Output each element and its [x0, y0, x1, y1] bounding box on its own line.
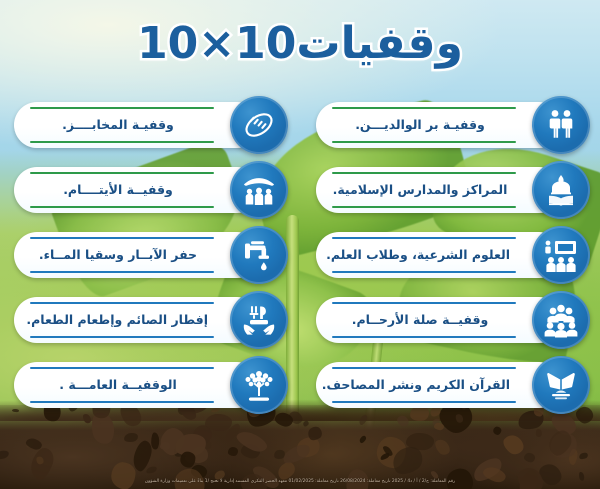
item-pill[interactable]: وقفيـة بر الوالديـــن. — [316, 102, 562, 148]
left-column: وقفيـة المخابــــز. وقفيــة الأيتــــام. — [14, 96, 286, 421]
soil-clod — [536, 429, 542, 437]
item-pill[interactable]: العلوم الشرعية، وطلاب العلم. — [316, 232, 562, 278]
soil-clod — [500, 431, 527, 457]
soil-clod — [441, 463, 478, 489]
item-pill[interactable]: الوقفيــة العامـــة . — [14, 362, 260, 408]
footer-licence-text: رقم المعاملة: ج/2 / أ / د4 / 2025 تاريخ … — [0, 479, 600, 484]
list-item[interactable]: وقفيــة صلة الأرحــام. — [316, 291, 588, 356]
item-label: وقفيـة المخابــــز. — [28, 119, 208, 132]
item-pill[interactable]: وقفيــة الأيتــــام. — [14, 167, 260, 213]
item-label: وقفيـة بر الوالديـــن. — [330, 119, 510, 132]
item-label: إفطار الصائم وإطعام الطعام. — [28, 314, 208, 327]
item-label: المراكز والمدارس الإسلامية. — [330, 184, 510, 197]
list-item[interactable]: وقفيـة بر الوالديـــن. — [316, 96, 588, 161]
item-pill[interactable]: وقفيـة المخابــــز. — [14, 102, 260, 148]
classroom-icon — [532, 226, 590, 284]
soil-clod — [579, 452, 589, 461]
item-label: وقفيــة الأيتــــام. — [28, 184, 208, 197]
list-item[interactable]: الوقفيــة العامـــة . — [14, 356, 286, 421]
soil-clod — [151, 432, 159, 449]
soil-clod — [302, 419, 310, 427]
open-quran-icon — [532, 356, 590, 414]
list-item[interactable]: حفر الآبــار وسقيا المــاء. — [14, 226, 286, 291]
soil-clod — [433, 436, 453, 457]
list-item[interactable]: القرآن الكريم ونشر المصاحف. — [316, 356, 588, 421]
list-item[interactable]: وقفيـة المخابــــز. — [14, 96, 286, 161]
soil-clod — [523, 452, 536, 464]
soil-clod — [359, 435, 368, 444]
page-title: وقفيات10×10 — [137, 18, 463, 69]
item-pill[interactable]: القرآن الكريم ونشر المصاحف. — [316, 362, 562, 408]
soil-clod — [434, 423, 445, 431]
item-pill[interactable]: وقفيــة صلة الأرحــام. — [316, 297, 562, 343]
right-column: وقفيـة بر الوالديـــن. المراكز والمدارس … — [316, 96, 588, 421]
list-item[interactable]: المراكز والمدارس الإسلامية. — [316, 161, 588, 226]
item-label: العلوم الشرعية، وطلاب العلم. — [330, 249, 510, 262]
infographic-canvas: وقفيات10×10 وقفيـة بر الوالديـــن. المرا… — [0, 0, 600, 489]
item-pill[interactable]: إفطار الصائم وإطعام الطعام. — [14, 297, 260, 343]
list-item[interactable]: وقفيــة الأيتــــام. — [14, 161, 286, 226]
list-item[interactable]: العلوم الشرعية، وطلاب العلم. — [316, 226, 588, 291]
soil-clod — [145, 465, 157, 474]
item-label: وقفيــة صلة الأرحــام. — [330, 314, 510, 327]
list-item[interactable]: إفطار الصائم وإطعام الطعام. — [14, 291, 286, 356]
title-container: وقفيات10×10 — [0, 18, 600, 69]
item-pill[interactable]: حفر الآبــار وسقيا المــاء. — [14, 232, 260, 278]
hands-food-icon — [230, 291, 288, 349]
orphans-icon — [230, 161, 288, 219]
two-people-icon — [532, 96, 590, 154]
soil-clod — [0, 449, 9, 461]
family-group-icon — [532, 291, 590, 349]
item-pill[interactable]: المراكز والمدارس الإسلامية. — [316, 167, 562, 213]
bread-icon — [230, 96, 288, 154]
item-label: القرآن الكريم ونشر المصاحف. — [330, 379, 510, 392]
tree-icon — [230, 356, 288, 414]
soil-clod — [493, 426, 502, 436]
soil-clod — [110, 462, 136, 489]
water-tap-icon — [230, 226, 288, 284]
mosque-book-icon — [532, 161, 590, 219]
soil-clod — [228, 447, 239, 456]
item-label: الوقفيــة العامـــة . — [28, 379, 208, 392]
item-label: حفر الآبــار وسقيا المــاء. — [28, 249, 208, 262]
soil-clod — [123, 432, 139, 443]
